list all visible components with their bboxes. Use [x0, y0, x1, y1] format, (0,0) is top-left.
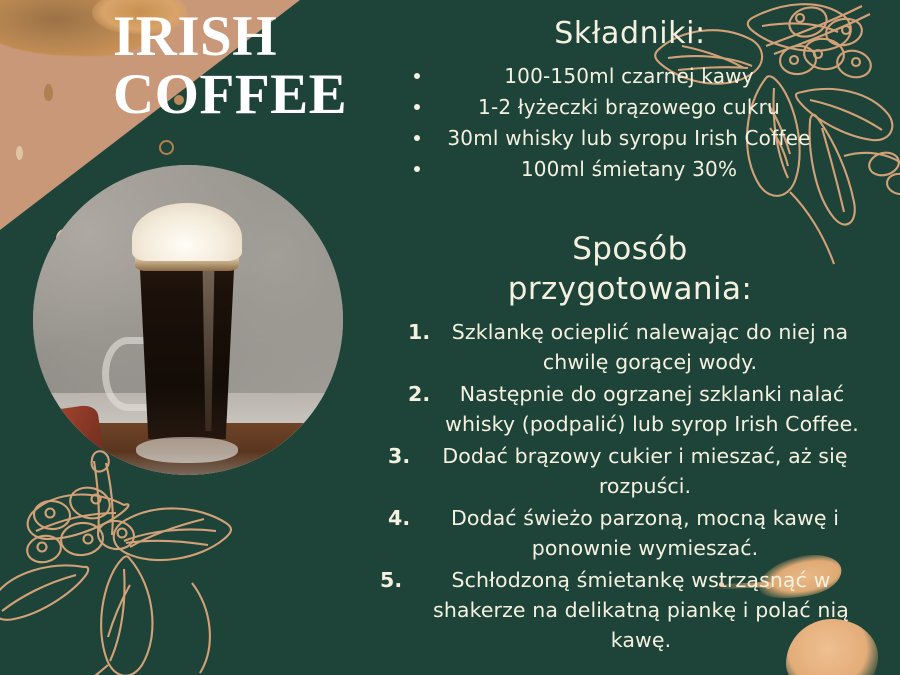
list-item: 100ml śmietany 30% — [360, 154, 900, 185]
list-item: 4. Dodać świeżo parzoną, mocną kawę i po… — [360, 503, 900, 563]
bullet-icon — [414, 104, 420, 110]
step-number: 3. — [388, 441, 410, 471]
cream-foam — [132, 203, 242, 261]
ingredients-list: 100-150ml czarnej kawy 1-2 łyżeczki brąz… — [360, 61, 900, 185]
bullet-icon — [414, 73, 420, 79]
ingredient-text: 100ml śmietany 30% — [521, 157, 737, 181]
list-item: 30ml whisky lub syropu Irish Coffee — [360, 123, 900, 154]
ingredients-heading: Składniki: — [360, 16, 900, 51]
list-item: 2. Następnie do ogrzanej szklanki nalać … — [360, 379, 900, 439]
preparation-heading: Sposób przygotowania: — [360, 229, 900, 309]
step-text: Schłodzoną śmietankę wstrząsnąć w shaker… — [433, 568, 849, 652]
list-item: 100-150ml czarnej kawy — [360, 61, 900, 92]
list-item: 3. Dodać brązowy cukier i mieszać, aż si… — [360, 441, 900, 501]
step-text: Następnie do ogrzanej szklanki nalać whi… — [445, 382, 859, 436]
list-item: 1. Szklankę ocieplić nalewając do niej n… — [360, 317, 900, 377]
irish-coffee-photo — [33, 165, 343, 475]
recipe-card: IRISH COFFEE — [0, 0, 900, 675]
step-text: Dodać świeżo parzoną, mocną kawę i ponow… — [451, 506, 839, 560]
step-number: 4. — [388, 503, 410, 533]
ingredient-text: 100-150ml czarnej kawy — [504, 64, 754, 88]
coffee-glass — [128, 205, 246, 457]
glass-foot — [136, 437, 238, 463]
list-item: 5. Schłodzoną śmietankę wstrząsnąć w sha… — [360, 565, 900, 655]
list-item: 1-2 łyżeczki brązowego cukru — [360, 92, 900, 123]
bullet-icon — [414, 135, 420, 141]
step-number: 5. — [380, 565, 402, 595]
ingredient-text: 30ml whisky lub syropu Irish Coffee — [447, 126, 810, 150]
step-number: 1. — [408, 317, 430, 347]
preparation-steps: 1. Szklankę ocieplić nalewając do niej n… — [360, 317, 900, 655]
splash-dot — [16, 146, 23, 160]
step-number: 2. — [408, 379, 430, 409]
bullet-icon — [414, 166, 420, 172]
splash-dot — [159, 140, 174, 155]
step-text: Szklankę ocieplić nalewając do niej na c… — [452, 320, 848, 374]
preparation-heading-line-2: przygotowania: — [360, 269, 900, 309]
ingredient-text: 1-2 łyżeczki brązowego cukru — [478, 95, 780, 119]
recipe-content: Składniki: 100-150ml czarnej kawy 1-2 ły… — [360, 0, 900, 675]
splash-dot — [719, 582, 724, 587]
step-text: Dodać brązowy cukier i mieszać, aż się r… — [442, 444, 847, 498]
splash-dot — [44, 84, 53, 101]
preparation-heading-line-1: Sposób — [360, 229, 900, 269]
